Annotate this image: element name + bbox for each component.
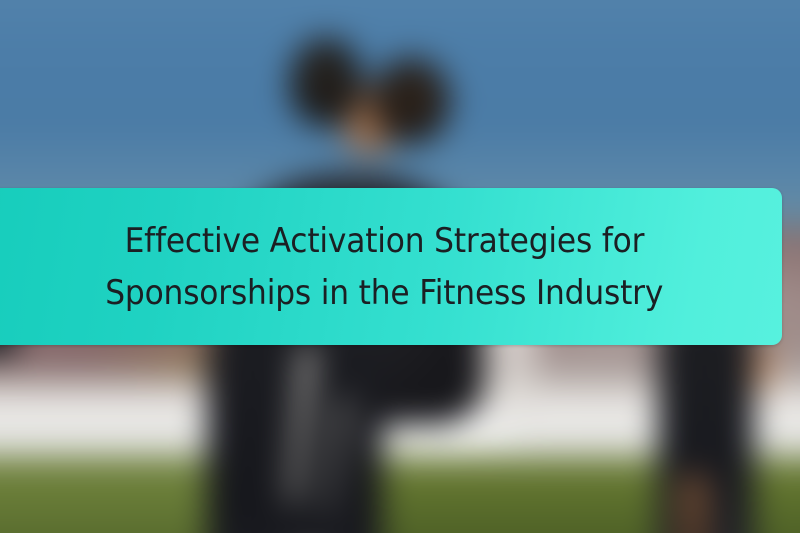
title-banner: Effective Activation Strategies for Spon…	[0, 188, 782, 345]
pitch-grass-left-highlight	[0, 462, 216, 533]
title-line-2: Sponsorships in the Fitness Industry	[105, 267, 663, 319]
title-line-1: Effective Activation Strategies for	[124, 215, 644, 267]
title-card: Effective Activation Strategies for Spon…	[0, 0, 800, 533]
embracing-figure-head-left	[290, 38, 362, 126]
right-side-figure-leg	[676, 475, 710, 533]
embracing-figure-head-right	[372, 58, 450, 144]
